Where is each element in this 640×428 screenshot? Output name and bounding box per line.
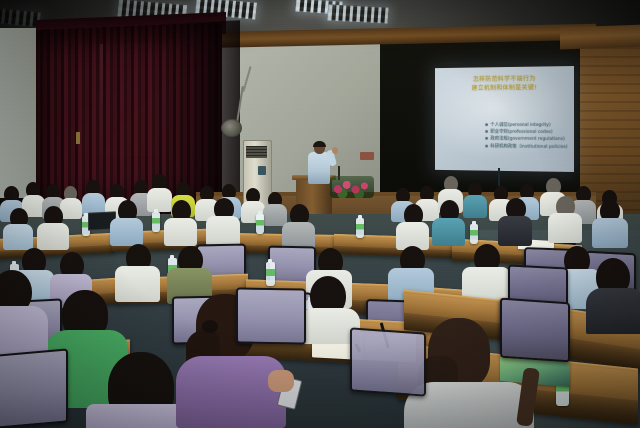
speaker-hair: [313, 141, 326, 147]
audience-torso: [147, 188, 172, 212]
audience-torso: [263, 204, 287, 226]
water-bottle[interactable]: [256, 214, 264, 234]
floral-arrangement: [330, 176, 374, 198]
slide-bullet-4: 科研机构政策（institutional policies): [485, 143, 568, 151]
wall-fan-icon: [221, 119, 242, 137]
audience-torso: [37, 223, 69, 250]
audience-torso: [548, 213, 582, 243]
audience-torso: [498, 216, 532, 246]
audience-torso: [60, 198, 82, 219]
slide-title-line-2: 建立机制和体制是关键!: [441, 84, 569, 93]
audience-torso: [432, 218, 465, 246]
audience-torso: [586, 288, 640, 334]
chair[interactable]: [500, 298, 570, 363]
projection-screen: 怎样防范科学不端行为 建立机制和体制是关键! 个人诚信(personal int…: [428, 66, 574, 172]
chair[interactable]: [350, 327, 426, 396]
air-conditioner-panel[interactable]: [258, 166, 266, 175]
audience-torso: [206, 216, 240, 246]
water-bottle[interactable]: [356, 218, 364, 238]
audience-torso: [115, 266, 160, 302]
hand: [268, 370, 294, 392]
lecture-hall-photo: 怎样防范科学不端行为 建立机制和体制是关键! 个人诚信(personal int…: [0, 0, 640, 428]
water-bottle[interactable]: [470, 224, 478, 244]
audience-torso: [176, 356, 286, 428]
audience-torso: [110, 218, 143, 246]
slide-bullet-list: 个人诚信(personal integrity) 职业守则(profession…: [448, 122, 568, 151]
slide-title: 怎样防范科学不端行为 建立机制和体制是关键!: [441, 75, 569, 93]
audience-torso: [592, 218, 628, 248]
exit-sign: [360, 152, 374, 160]
audience-torso: [164, 218, 197, 246]
audience-torso: [463, 195, 487, 218]
wood-trim-band-right: [560, 25, 640, 50]
chair[interactable]: [236, 287, 306, 344]
hair-tie: [202, 320, 218, 333]
door-handle[interactable]: [76, 132, 80, 144]
speaker-hand: [332, 147, 338, 154]
projected-slide: 怎样防范科学不端行为 建立机制和体制是关键! 个人诚信(personal int…: [435, 66, 574, 172]
chair[interactable]: [0, 348, 68, 428]
water-bottle[interactable]: [266, 262, 275, 286]
water-bottle[interactable]: [152, 212, 160, 232]
air-conditioner-vent: [246, 146, 267, 158]
audience-torso: [3, 224, 33, 250]
screen-support-pole: [498, 168, 500, 186]
slide-bullet-3: 政府法规(government regulations): [485, 136, 568, 144]
